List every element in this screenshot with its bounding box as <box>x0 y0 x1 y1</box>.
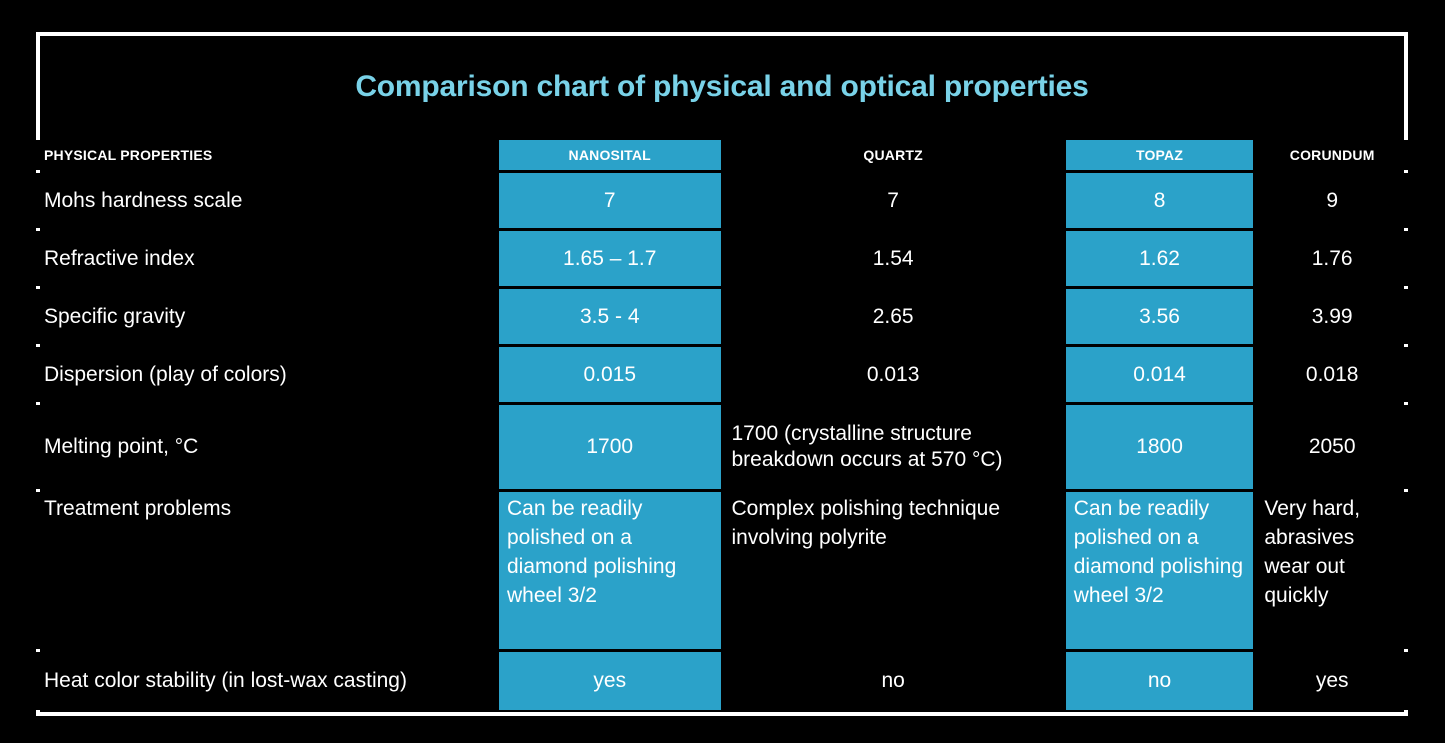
cell-text: Can be readily polished on a diamond pol… <box>499 492 721 649</box>
table-row: Dispersion (play of colors) 0.015 0.013 … <box>36 347 1408 402</box>
cell-mohs-nanosital: 7 <box>499 173 721 228</box>
cell-refractive-nanosital: 1.65 – 1.7 <box>499 231 721 286</box>
header-label-topaz: TOPAZ <box>1066 140 1254 170</box>
cell-mohs-quartz: 7 <box>724 173 1063 228</box>
cell-text: 1.65 – 1.7 <box>499 231 721 286</box>
table-row: Heat color stability (in lost-wax castin… <box>36 652 1408 710</box>
header-cell-corundum: CORUNDUM <box>1256 140 1408 170</box>
cell-text: 3.56 <box>1066 289 1254 344</box>
cell-text: no <box>724 652 1063 710</box>
cell-text: yes <box>499 652 721 710</box>
cell-heat-quartz: no <box>724 652 1063 710</box>
cell-refractive-quartz: 1.54 <box>724 231 1063 286</box>
header-label-corundum: CORUNDUM <box>1256 140 1408 170</box>
table-row: Specific gravity 3.5 - 4 2.65 3.56 3.99 <box>36 289 1408 344</box>
cell-text: 2050 <box>1256 405 1408 489</box>
header-cell-topaz: TOPAZ <box>1066 140 1254 170</box>
cell-refractive-topaz: 1.62 <box>1066 231 1254 286</box>
cell-heat-topaz: no <box>1066 652 1254 710</box>
header-label-physical-properties: PHYSICAL PROPERTIES <box>36 140 496 170</box>
table-row: Mohs hardness scale 7 7 8 9 <box>36 173 1408 228</box>
cell-text: Dispersion (play of colors) <box>36 347 496 402</box>
row-label-mohs-hardness: Mohs hardness scale <box>36 173 496 228</box>
cell-text: 3.5 - 4 <box>499 289 721 344</box>
row-label-heat-color-stability: Heat color stability (in lost-wax castin… <box>36 652 496 710</box>
table-row: Refractive index 1.65 – 1.7 1.54 1.62 1.… <box>36 231 1408 286</box>
cell-text: 7 <box>724 173 1063 228</box>
cell-dispersion-topaz: 0.014 <box>1066 347 1254 402</box>
cell-heat-corundum: yes <box>1256 652 1408 710</box>
header-cell-nanosital: NANOSITAL <box>499 140 721 170</box>
cell-text: Can be readily polished on a diamond pol… <box>1066 492 1254 649</box>
comparison-chart-frame: Comparison chart of physical and optical… <box>36 32 1408 716</box>
cell-gravity-quartz: 2.65 <box>724 289 1063 344</box>
cell-text: yes <box>1256 652 1408 710</box>
cell-text: Very hard, abrasives wear out quickly <box>1256 492 1408 649</box>
cell-text: 0.018 <box>1256 347 1408 402</box>
cell-text: 2.65 <box>724 289 1063 344</box>
cell-treatment-topaz: Can be readily polished on a diamond pol… <box>1066 492 1254 649</box>
header-label-quartz: QUARTZ <box>724 140 1063 170</box>
table-header-row: PHYSICAL PROPERTIES NANOSITAL QUARTZ TOP… <box>36 140 1408 170</box>
cell-dispersion-nanosital: 0.015 <box>499 347 721 402</box>
cell-text: Mohs hardness scale <box>36 173 496 228</box>
row-label-dispersion: Dispersion (play of colors) <box>36 347 496 402</box>
table-row: Melting point, °C 1700 1700 (crystalline… <box>36 405 1408 489</box>
cell-text: 1700 <box>499 405 721 489</box>
cell-melting-quartz: 1700 (crystalline structure breakdown oc… <box>724 405 1063 489</box>
cell-text: Heat color stability (in lost-wax castin… <box>36 652 496 710</box>
cell-text: Melting point, °C <box>36 405 496 489</box>
page-root: Comparison chart of physical and optical… <box>0 0 1445 743</box>
cell-text: 1700 (crystalline structure breakdown oc… <box>724 405 1063 489</box>
cell-melting-nanosital: 1700 <box>499 405 721 489</box>
cell-dispersion-corundum: 0.018 <box>1256 347 1408 402</box>
cell-melting-corundum: 2050 <box>1256 405 1408 489</box>
cell-treatment-nanosital: Can be readily polished on a diamond pol… <box>499 492 721 649</box>
header-cell-quartz: QUARTZ <box>724 140 1063 170</box>
cell-gravity-nanosital: 3.5 - 4 <box>499 289 721 344</box>
cell-text: Refractive index <box>36 231 496 286</box>
cell-dispersion-quartz: 0.013 <box>724 347 1063 402</box>
row-label-treatment-problems: Treatment problems <box>36 492 496 649</box>
cell-text: Specific gravity <box>36 289 496 344</box>
cell-text: 7 <box>499 173 721 228</box>
cell-text: 1.76 <box>1256 231 1408 286</box>
cell-melting-topaz: 1800 <box>1066 405 1254 489</box>
cell-refractive-corundum: 1.76 <box>1256 231 1408 286</box>
cell-mohs-corundum: 9 <box>1256 173 1408 228</box>
page-title: Comparison chart of physical and optical… <box>355 70 1088 103</box>
cell-text: Complex polishing technique involving po… <box>724 492 1063 649</box>
cell-gravity-corundum: 3.99 <box>1256 289 1408 344</box>
comparison-table: PHYSICAL PROPERTIES NANOSITAL QUARTZ TOP… <box>36 140 1408 710</box>
cell-text: 0.015 <box>499 347 721 402</box>
row-label-melting-point: Melting point, °C <box>36 405 496 489</box>
cell-text: 8 <box>1066 173 1254 228</box>
cell-text: 0.014 <box>1066 347 1254 402</box>
row-label-refractive-index: Refractive index <box>36 231 496 286</box>
cell-mohs-topaz: 8 <box>1066 173 1254 228</box>
cell-text: 1.62 <box>1066 231 1254 286</box>
title-band: Comparison chart of physical and optical… <box>40 36 1404 136</box>
cell-text: 1.54 <box>724 231 1063 286</box>
row-label-specific-gravity: Specific gravity <box>36 289 496 344</box>
cell-gravity-topaz: 3.56 <box>1066 289 1254 344</box>
cell-text: 1800 <box>1066 405 1254 489</box>
cell-treatment-corundum: Very hard, abrasives wear out quickly <box>1256 492 1408 649</box>
cell-text: 9 <box>1256 173 1408 228</box>
cell-text: no <box>1066 652 1254 710</box>
table-row: Treatment problems Can be readily polish… <box>36 492 1408 649</box>
cell-text: 0.013 <box>724 347 1063 402</box>
cell-text: 3.99 <box>1256 289 1408 344</box>
cell-heat-nanosital: yes <box>499 652 721 710</box>
header-label-nanosital: NANOSITAL <box>499 140 721 170</box>
cell-text: Treatment problems <box>36 492 496 649</box>
header-cell-physical-properties: PHYSICAL PROPERTIES <box>36 140 496 170</box>
cell-treatment-quartz: Complex polishing technique involving po… <box>724 492 1063 649</box>
